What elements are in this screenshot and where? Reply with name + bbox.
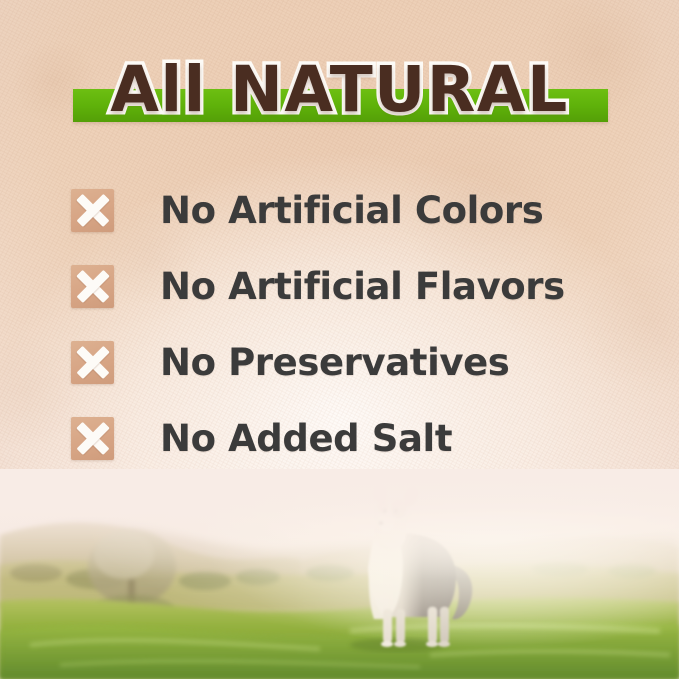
claim-label: No Artificial Colors — [160, 189, 543, 232]
banner-title: All NATURAL — [0, 48, 679, 132]
banner: All NATURAL — [0, 48, 679, 136]
product-feature-panel: All NATURAL No Artificial Colors No Arti… — [0, 0, 679, 679]
claims-list: No Artificial Colors No Artificial Flavo… — [71, 172, 631, 476]
landscape-illustration — [0, 469, 679, 679]
claim-label: No Preservatives — [160, 341, 509, 384]
x-mark-icon — [71, 189, 114, 232]
landscape-photo — [0, 469, 679, 679]
claim-label: No Added Salt — [160, 417, 452, 460]
claim-row: No Added Salt — [71, 400, 631, 476]
x-mark-icon — [71, 341, 114, 384]
claim-row: No Artificial Colors — [71, 172, 631, 248]
x-mark-icon — [71, 265, 114, 308]
claim-row: No Artificial Flavors — [71, 248, 631, 324]
claim-label: No Artificial Flavors — [160, 265, 565, 308]
claim-row: No Preservatives — [71, 324, 631, 400]
x-mark-icon — [71, 417, 114, 460]
photo-sun-haze — [0, 469, 679, 679]
